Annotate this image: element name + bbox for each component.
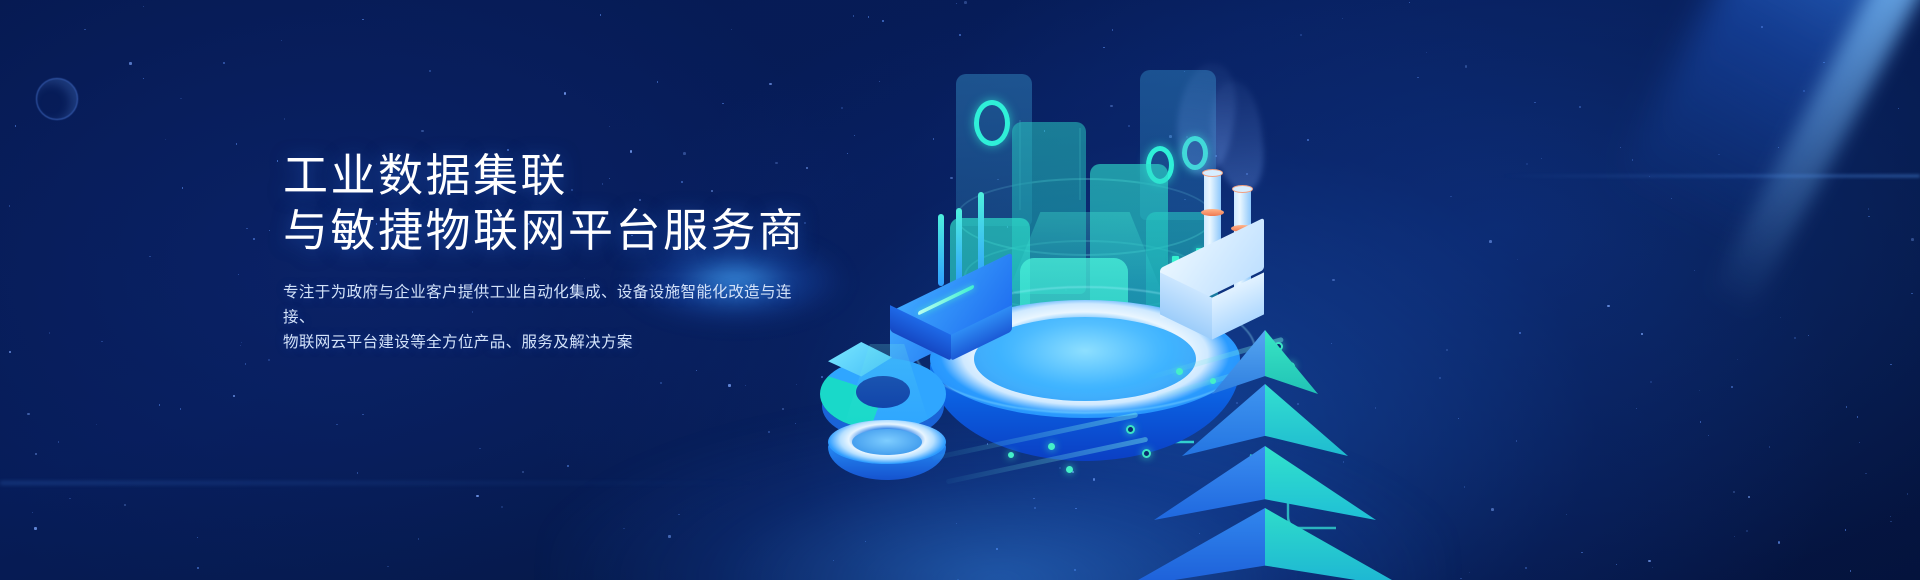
star xyxy=(269,230,270,231)
star xyxy=(479,448,480,449)
star xyxy=(143,6,144,7)
beam-node-1 xyxy=(1126,425,1135,434)
star xyxy=(1794,337,1796,339)
star xyxy=(124,504,126,506)
star xyxy=(1890,521,1891,522)
holo-ring-icon-1 xyxy=(974,100,1010,146)
star xyxy=(1859,442,1860,443)
beam-node-5 xyxy=(1066,466,1073,473)
star xyxy=(429,70,431,72)
star xyxy=(245,363,246,364)
star xyxy=(236,143,237,144)
star xyxy=(722,103,723,104)
star xyxy=(241,342,242,343)
star xyxy=(165,139,166,140)
star xyxy=(1890,364,1891,365)
star xyxy=(277,160,278,161)
star xyxy=(34,527,37,530)
star xyxy=(421,130,424,133)
star xyxy=(238,274,239,275)
crescent-moon-icon xyxy=(36,78,78,120)
star xyxy=(1911,293,1912,294)
star xyxy=(197,567,199,569)
star xyxy=(1868,216,1869,217)
light-beams xyxy=(930,412,1170,472)
star xyxy=(15,125,16,126)
star xyxy=(268,359,269,360)
star xyxy=(336,424,337,425)
pyramid-tier-1 xyxy=(1124,508,1406,580)
smokestack-2-mouth xyxy=(1232,185,1253,193)
beam-node-4 xyxy=(1008,452,1014,458)
star xyxy=(182,187,183,188)
star xyxy=(696,370,697,371)
star xyxy=(1846,406,1847,407)
star xyxy=(197,537,198,538)
star xyxy=(27,413,30,416)
star xyxy=(9,205,10,206)
star xyxy=(1857,416,1858,417)
star xyxy=(564,92,567,95)
star xyxy=(609,126,610,127)
star xyxy=(362,414,363,415)
star xyxy=(84,29,85,30)
star xyxy=(1868,208,1869,209)
smokestack-1-mouth xyxy=(1202,169,1223,177)
star xyxy=(1907,493,1908,494)
star xyxy=(253,238,255,240)
star xyxy=(362,19,363,20)
star xyxy=(180,98,181,99)
star xyxy=(58,441,59,442)
star xyxy=(731,29,732,30)
star xyxy=(745,385,746,386)
headline-line-1: 工业数据集联 xyxy=(283,148,943,203)
star xyxy=(223,62,224,63)
subcopy: 专注于为政府与企业客户提供工业自动化集成、设备设施智能化改造与连接、 物联网云平… xyxy=(283,280,813,355)
router-antenna-2 xyxy=(956,208,962,286)
layered-pyramid xyxy=(1150,330,1380,580)
star xyxy=(159,404,160,405)
star xyxy=(357,472,358,473)
star xyxy=(284,118,285,119)
star xyxy=(101,341,102,342)
hero-copy: 工业数据集联 与敏捷物联网平台服务商 专注于为政府与企业客户提供工业自动化集成、… xyxy=(283,148,943,355)
star xyxy=(1890,516,1891,517)
beam-node-3 xyxy=(1048,443,1055,450)
subcopy-line-1: 专注于为政府与企业客户提供工业自动化集成、设备设施智能化改造与连接、 xyxy=(283,284,792,326)
star xyxy=(240,345,241,346)
pedestal-core xyxy=(852,429,922,455)
star xyxy=(96,424,97,425)
star xyxy=(281,40,282,41)
star xyxy=(418,538,419,539)
star xyxy=(180,408,181,409)
star xyxy=(32,512,33,513)
star xyxy=(522,471,524,473)
star xyxy=(246,228,247,229)
star xyxy=(1911,238,1914,241)
star xyxy=(728,384,731,387)
subcopy-line-2: 物联网云平台建设等全方位产品、服务及解决方案 xyxy=(283,334,633,351)
star xyxy=(149,256,150,257)
smokestack-1-band xyxy=(1201,209,1224,216)
star xyxy=(1898,108,1899,109)
beam-1 xyxy=(932,412,1138,461)
star xyxy=(9,351,11,353)
hero-banner: 工业数据集联 与敏捷物联网平台服务商 专注于为政府与企业客户提供工业自动化集成、… xyxy=(0,0,1920,580)
star xyxy=(501,506,502,507)
star xyxy=(1808,335,1809,336)
star xyxy=(129,62,132,65)
star xyxy=(387,566,388,567)
factory-smokestacks xyxy=(1160,75,1310,305)
star xyxy=(1845,529,1846,530)
star xyxy=(1850,570,1851,571)
star xyxy=(1865,473,1866,474)
star xyxy=(769,83,772,86)
star xyxy=(657,81,658,82)
star xyxy=(600,14,601,15)
star xyxy=(660,382,661,383)
star xyxy=(35,453,37,455)
star xyxy=(476,495,479,498)
star xyxy=(233,395,235,397)
star xyxy=(69,498,70,499)
headline-line-2: 与敏捷物联网平台服务商 xyxy=(283,203,943,258)
star xyxy=(49,332,50,333)
star xyxy=(143,78,144,79)
